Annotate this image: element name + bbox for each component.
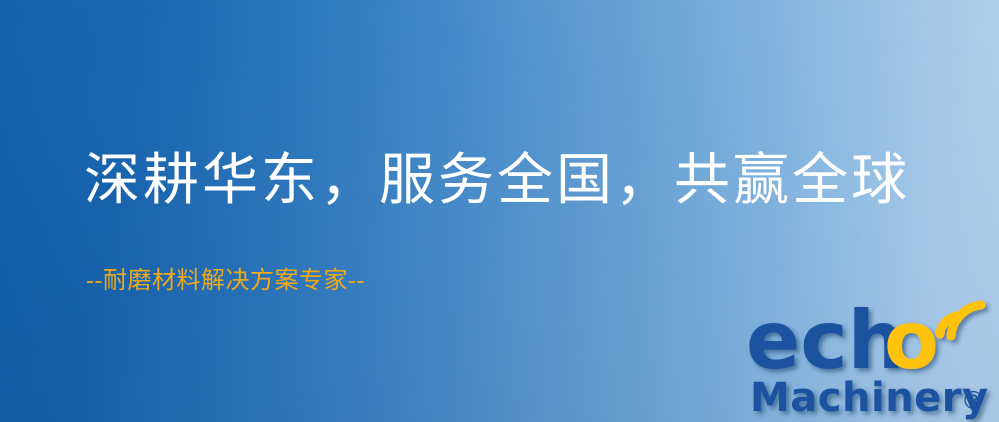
- registered-trademark-icon: ®: [961, 386, 986, 415]
- signal-waves-icon: [940, 305, 981, 336]
- echo-machinery-logo[interactable]: ech o Machinery ®: [744, 296, 999, 422]
- banner-headline: 深耕华东，服务全国，共赢全球: [84, 152, 910, 211]
- hero-banner: 深耕华东，服务全国，共赢全球 --耐磨材料解决方案专家-- ech o Mach…: [0, 0, 999, 422]
- logo-text-ech: ech: [746, 294, 905, 387]
- logo-text-o: o: [884, 294, 939, 387]
- logo-text-machinery: Machinery: [750, 375, 989, 421]
- banner-subtitle: --耐磨材料解决方案专家--: [86, 268, 365, 294]
